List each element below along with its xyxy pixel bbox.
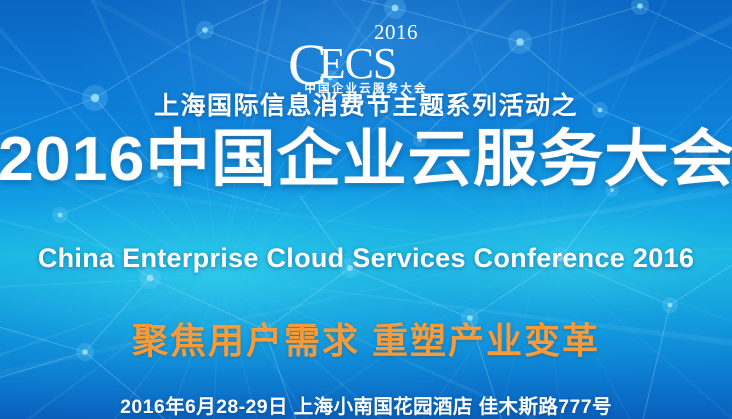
slogan-text: 聚焦用户需求 重塑产业变革 xyxy=(132,312,600,364)
cecs-logo: 2016 CECS 中国企业云服务大会 xyxy=(282,22,450,72)
banner-content: 2016 CECS 中国企业云服务大会 上海国际信息消费节主题系列活动之 201… xyxy=(0,0,732,419)
logo-chinese-name: 中国企业云服务大会 xyxy=(282,80,450,96)
date-venue-text: 2016年6月28-29日 上海小南国花园酒店 佳木斯路777号 xyxy=(120,390,612,419)
english-subtitle: China Enterprise Cloud Services Conferen… xyxy=(38,243,694,274)
page-title: 2016中国企业云服务大会 xyxy=(0,128,732,191)
conference-banner: 2016 CECS 中国企业云服务大会 上海国际信息消费节主题系列活动之 201… xyxy=(0,0,732,419)
